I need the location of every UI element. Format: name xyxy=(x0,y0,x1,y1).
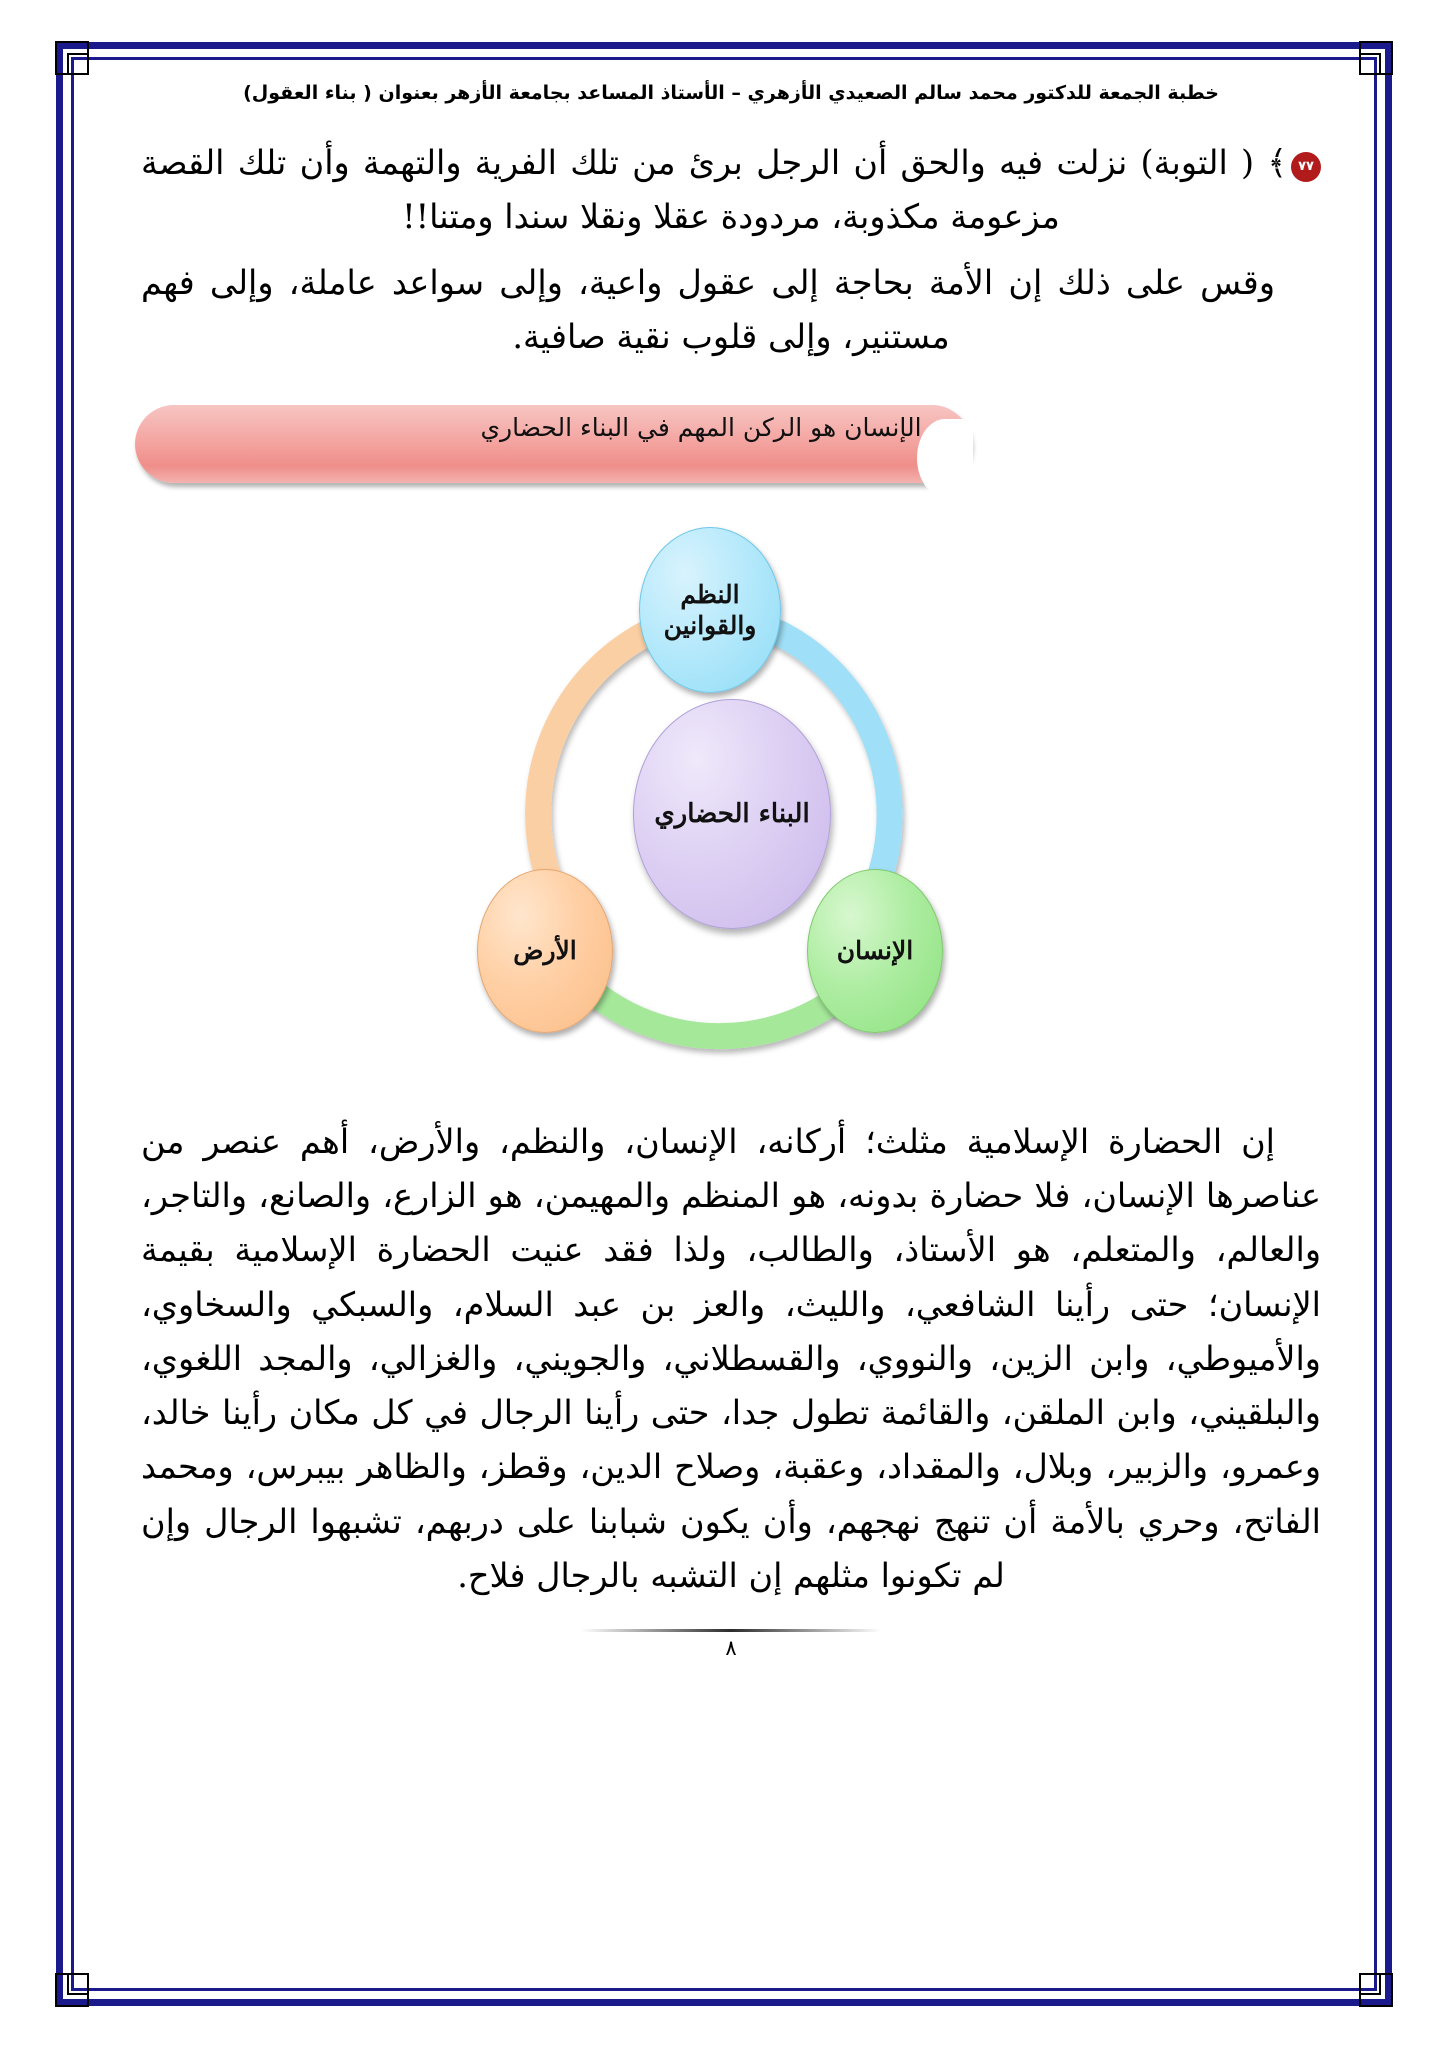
page-number: ٨ xyxy=(123,1636,1339,1660)
verse-number-marker: ٧٧ xyxy=(1291,152,1321,182)
cycle-diagram: النظم والقوانين البناء الحضاري الإنسان ا… xyxy=(411,521,1051,1101)
document-content: خطبة الجمعة للدكتور محمد سالم الصعيدي ال… xyxy=(123,81,1339,1951)
paragraph-one-text: ﴾ ( التوبة) نزلت فيه والحق أن الرجل برئ … xyxy=(141,143,1287,236)
diagram-node-land: الأرض xyxy=(477,869,613,1033)
footer-rule xyxy=(581,1629,881,1632)
diagram-node-laws-label: النظم والقوانين xyxy=(640,579,780,642)
paragraph-three: إن الحضارة الإسلامية مثلث؛ أركانه، الإنس… xyxy=(123,1115,1339,1603)
arc-orange xyxy=(538,633,647,873)
diagram-node-center: البناء الحضاري xyxy=(633,699,831,929)
banner-caption-block: الإنسان هو الركن المهم في البناء الحضاري xyxy=(123,391,1339,503)
diagram-node-human: الإنسان xyxy=(807,869,943,1033)
page-footer: ٨ xyxy=(123,1629,1339,1660)
page-border-frame: خطبة الجمعة للدكتور محمد سالم الصعيدي ال… xyxy=(56,42,1392,2006)
paragraph-two: وقس على ذلك إن الأمة بحاجة إلى عقول واعي… xyxy=(123,256,1339,365)
diagram-node-land-label: الأرض xyxy=(513,935,577,966)
banner-caption-text: الإنسان هو الركن المهم في البناء الحضاري xyxy=(123,413,1339,442)
diagram-node-human-label: الإنسان xyxy=(837,935,913,966)
paragraph-one: ٧٧﴾ ( التوبة) نزلت فيه والحق أن الرجل بر… xyxy=(123,136,1339,245)
document-header: خطبة الجمعة للدكتور محمد سالم الصعيدي ال… xyxy=(123,81,1339,106)
arc-green xyxy=(589,989,845,1036)
diagram-node-center-label: البناء الحضاري xyxy=(654,798,809,831)
diagram-node-laws: النظم والقوانين xyxy=(639,527,781,693)
